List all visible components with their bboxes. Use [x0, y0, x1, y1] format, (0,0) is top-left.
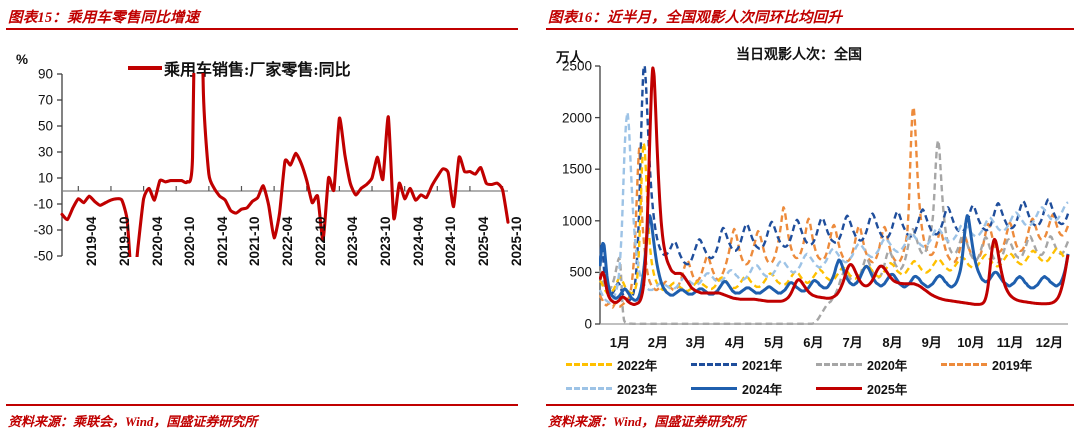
legend-label-2021年: 2021年 — [742, 355, 782, 374]
series-2025年 — [600, 68, 1068, 304]
left-chart-xtick: 2023-10 — [378, 216, 393, 266]
left-chart-xtick: 2023-04 — [345, 216, 360, 266]
right-chart-xtick: 3月 — [686, 332, 706, 351]
legend-label-2024年: 2024年 — [742, 379, 782, 398]
legend-item-2023年[interactable]: 2023年 — [566, 379, 691, 398]
legend-item-2025年[interactable]: 2025年 — [816, 379, 941, 398]
left-chart-xtick: 2025-10 — [509, 216, 524, 266]
figure-16-top-rule — [546, 28, 1074, 30]
right-chart-ytick: 1500 — [562, 162, 592, 177]
right-chart-xtick: 10月 — [957, 332, 984, 351]
figure-15-panel: 图表15：乘用车零售同比增速 % 乘用车销售:厂家零售:同比 907050301… — [0, 0, 524, 434]
legend-label-2023年: 2023年 — [617, 379, 657, 398]
right-chart-ytick: 0 — [584, 317, 592, 332]
left-chart-ytick: 50 — [38, 119, 53, 134]
right-chart-ytick: 1000 — [562, 213, 592, 228]
left-chart-xtick: 2024-04 — [411, 216, 426, 266]
left-chart-ytick: 10 — [38, 171, 53, 186]
left-chart-ytick: -50 — [33, 249, 53, 264]
left-chart-xtick: 2019-04 — [84, 216, 99, 266]
left-chart-ytick: -10 — [33, 197, 53, 212]
right-chart-ytick: 2500 — [562, 59, 592, 74]
figure-page: 图表15：乘用车零售同比增速 % 乘用车销售:厂家零售:同比 907050301… — [0, 0, 1080, 434]
legend-item-2020年[interactable]: 2020年 — [816, 355, 941, 374]
right-chart-xtick: 8月 — [882, 332, 902, 351]
legend-item-2021年[interactable]: 2021年 — [691, 355, 816, 374]
legend-swatch-2019年 — [941, 363, 987, 366]
legend-swatch-2024年 — [691, 387, 737, 390]
figure-15-top-rule — [6, 28, 518, 30]
left-chart-ytick: -30 — [33, 223, 53, 238]
right-chart-xtick: 11月 — [997, 332, 1024, 351]
right-chart-xtick: 1月 — [610, 332, 630, 351]
right-chart-svg — [540, 56, 1080, 356]
left-chart-ytick: 70 — [38, 93, 53, 108]
right-chart-xtick: 5月 — [764, 332, 784, 351]
legend-label-2022年: 2022年 — [617, 355, 657, 374]
figure-16-title: 图表16：近半月，全国观影人次同环比均回升 — [548, 6, 842, 27]
figure-16-bottom-rule — [546, 404, 1074, 406]
right-chart-xtick: 6月 — [803, 332, 823, 351]
right-chart-plot: 250020001500100050001月2月3月4月5月6月7月8月9月10… — [540, 56, 1080, 356]
figure-15-source: 资料来源：乘联会，Wind，国盛证券研究所 — [8, 411, 257, 430]
figure-16-source: 资料来源：Wind，国盛证券研究所 — [548, 411, 745, 430]
left-chart-svg — [0, 60, 524, 325]
right-chart-xtick: 7月 — [843, 332, 863, 351]
left-chart-xtick: 2022-04 — [280, 216, 295, 266]
right-chart-xtick: 2月 — [648, 332, 668, 351]
legend-swatch-2022年 — [566, 363, 612, 366]
right-chart-ytick: 2000 — [562, 110, 592, 125]
right-chart-xtick: 12月 — [1036, 332, 1063, 351]
right-chart-xtick: 4月 — [725, 332, 745, 351]
legend-label-2025年: 2025年 — [867, 379, 907, 398]
legend-item-2024年[interactable]: 2024年 — [691, 379, 816, 398]
legend-label-2019年: 2019年 — [992, 355, 1032, 374]
right-chart-legend: 2022年2021年2020年2019年2023年2024年2025年 — [566, 355, 1066, 398]
left-chart-ytick: 30 — [38, 145, 53, 160]
figure-15-title: 图表15：乘用车零售同比增速 — [8, 6, 199, 27]
legend-swatch-2025年 — [816, 387, 862, 390]
left-chart-xtick: 2020-04 — [150, 216, 165, 266]
right-chart-xtick: 9月 — [922, 332, 942, 351]
legend-swatch-2020年 — [816, 363, 862, 366]
left-chart-xtick: 2021-04 — [215, 216, 230, 266]
legend-item-2022年[interactable]: 2022年 — [566, 355, 691, 374]
left-chart-xtick: 2019-10 — [117, 216, 132, 266]
left-chart-ytick: 90 — [38, 67, 53, 82]
left-chart-xtick: 2022-10 — [313, 216, 328, 266]
figure-16-panel: 图表16：近半月，全国观影人次同环比均回升 万人 当日观影人次：全国 25002… — [540, 0, 1080, 434]
legend-swatch-2021年 — [691, 363, 737, 366]
left-chart-xtick: 2024-10 — [443, 216, 458, 266]
legend-label-2020年: 2020年 — [867, 355, 907, 374]
legend-swatch-2023年 — [566, 387, 612, 390]
left-chart-xtick: 2021-10 — [247, 216, 262, 266]
left-chart-xtick: 2025-04 — [476, 216, 491, 266]
left-chart-xtick: 2020-10 — [182, 216, 197, 266]
legend-item-2019年[interactable]: 2019年 — [941, 355, 1066, 374]
right-chart-ytick: 500 — [569, 265, 592, 280]
figure-15-bottom-rule — [6, 404, 518, 406]
left-chart-plot: 9070503010-10-30-502019-042019-102020-04… — [0, 60, 524, 325]
